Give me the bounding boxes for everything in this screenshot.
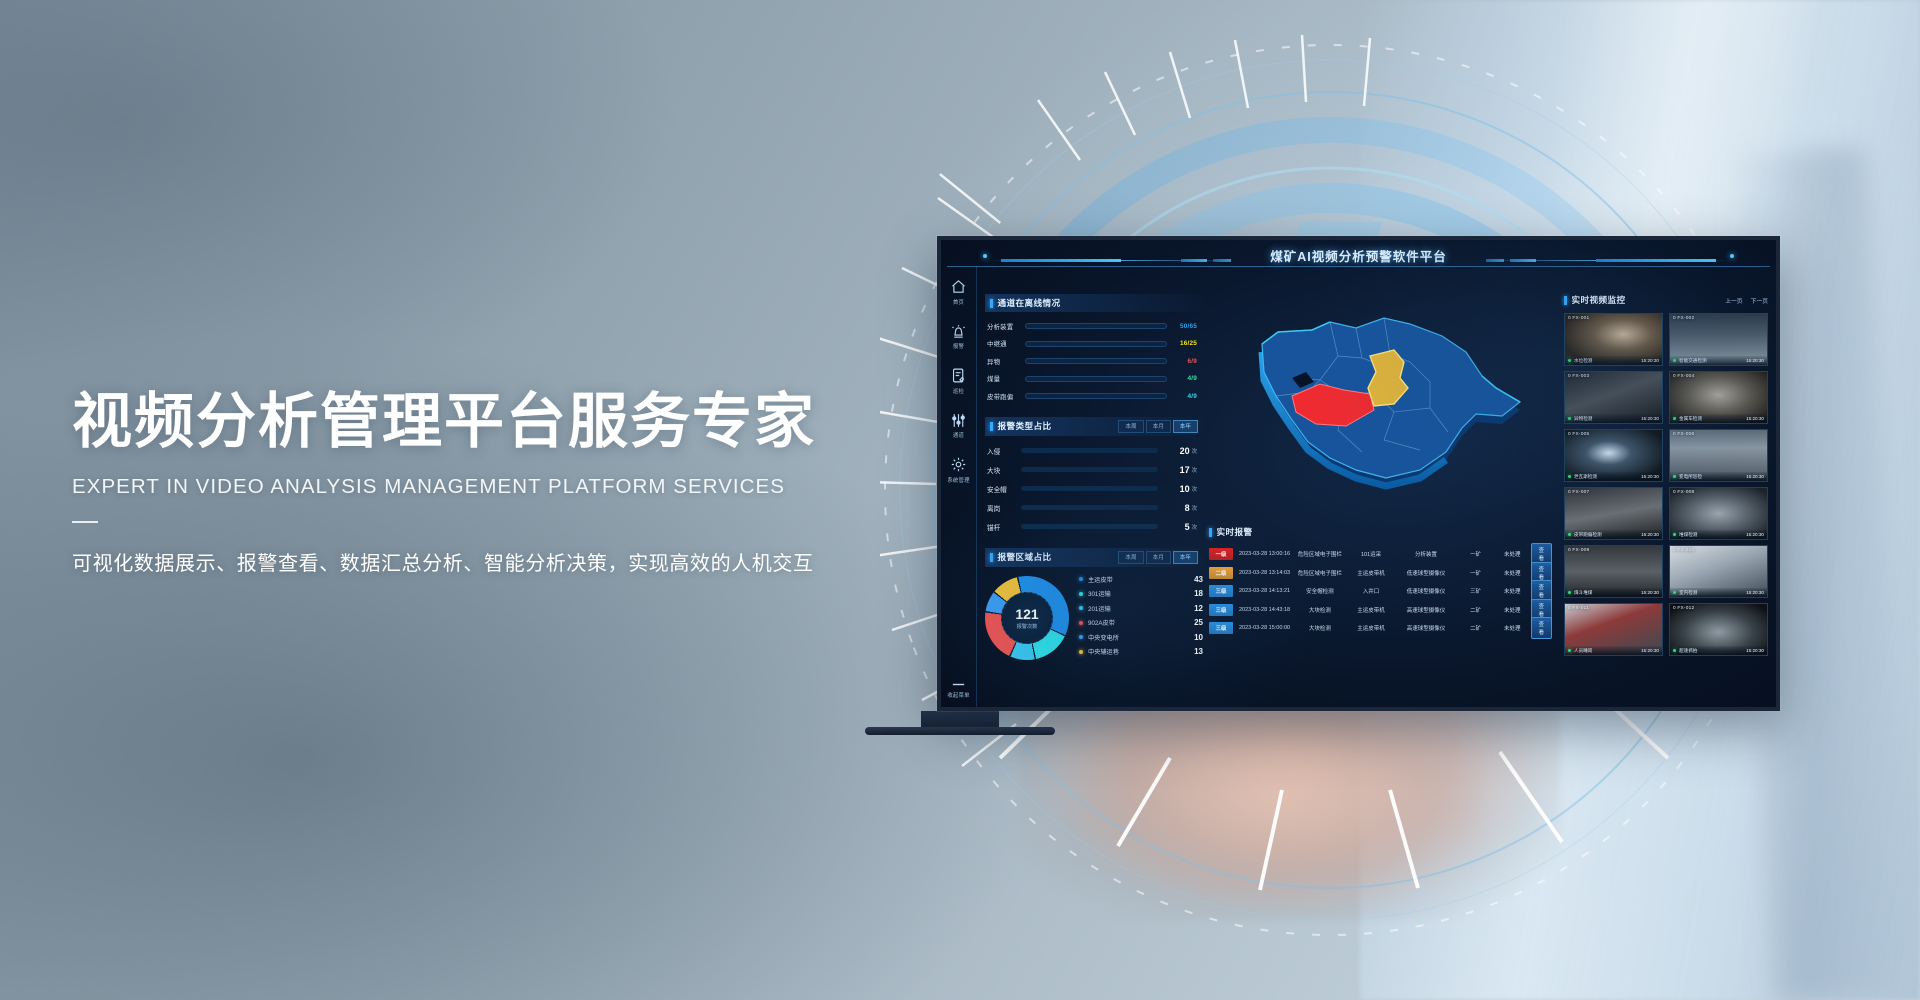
status-dot-icon: [1673, 649, 1676, 652]
table-row[interactable]: 三级 2023-03-28 14:13:21 安全帽检测 入井口 低速球型摄像仪…: [1209, 582, 1558, 601]
channel-bar-track: [1025, 376, 1167, 382]
table-row[interactable]: 二级 2023-03-28 13:14:03 危险区域电子围栏 主运皮带机 低速…: [1209, 564, 1558, 583]
alarm-device: 低速球型摄像仪: [1395, 587, 1458, 595]
prev-page-button[interactable]: 上一页: [1725, 296, 1742, 305]
sidebar-collapse-button[interactable]: 收起菜单: [941, 680, 976, 700]
alarm-type-unit: 次: [1192, 466, 1197, 474]
alarm-type-panel-header: 报警类型占比 本周 本月 本年: [985, 417, 1203, 436]
legend-color-dot: [1079, 606, 1083, 610]
legend-name: 中央辅运巷: [1088, 647, 1194, 656]
alarm-device: 高速球型摄像仪: [1395, 624, 1458, 632]
home-icon: [950, 278, 967, 295]
video-code: 0 FX-004: [1673, 374, 1694, 379]
video-tile[interactable]: 0 FX-002智能交通检测15:20:30: [1669, 313, 1768, 366]
alarm-action-cell: 查看: [1531, 617, 1558, 639]
channel-bar-value: 4/9: [1167, 375, 1197, 382]
sidebar-label-home: 首页: [953, 298, 964, 306]
alarm-type-track: [1021, 467, 1158, 473]
next-page-button[interactable]: 下一页: [1751, 296, 1768, 305]
sidebar-label-alarm: 报警: [953, 342, 964, 350]
video-timestamp: 15:20:30: [1641, 416, 1659, 421]
status-dot-icon: [1673, 475, 1676, 478]
alarm-type-count: 20: [1158, 446, 1190, 456]
video-tile[interactable]: 0 FX-007皮带跑偏检测15:20:30: [1564, 487, 1663, 540]
alarm-location: 主运皮带机: [1347, 624, 1394, 632]
alarm-type-label: 锚杆: [987, 522, 1021, 532]
video-tile[interactable]: 0 FX-009煤斗堆煤15:20:30: [1564, 545, 1663, 598]
region-map[interactable]: [1209, 294, 1558, 522]
legend-name: 301运输: [1088, 589, 1194, 598]
video-code: 0 FX-007: [1568, 490, 1589, 495]
video-caption-bar: 超速抓拍15:20:30: [1670, 646, 1767, 655]
video-timestamp: 15:20:30: [1641, 474, 1659, 479]
video-timestamp: 15:20:30: [1746, 532, 1764, 537]
alarm-location: 主运皮带机: [1347, 606, 1394, 614]
alarm-type-label: 大块: [987, 465, 1021, 475]
table-row[interactable]: 三级 2023-03-28 14:43:18 大块检测 主运皮带机 高速球型摄像…: [1209, 601, 1558, 620]
alarm-type-row: 锚杆 5 次: [987, 522, 1197, 532]
status-dot-icon: [1673, 533, 1676, 536]
channel-bar-value: 4/9: [1167, 393, 1197, 400]
alarm-device: 分析装置: [1395, 550, 1458, 558]
alarm-type-unit: 次: [1192, 523, 1197, 531]
level-badge: 三级: [1209, 585, 1233, 597]
alarm-area-panel-title: 报警区域占比: [990, 551, 1051, 563]
alarm-type-tabs: 本周 本月 本年: [1118, 420, 1198, 433]
level-badge: 三级: [1209, 604, 1233, 616]
legend-color-dot: [1079, 592, 1083, 596]
video-code: 0 FX-008: [1673, 490, 1694, 495]
alarm-mine: 二矿: [1457, 624, 1494, 632]
alarm-type-panel-title: 报警类型占比: [990, 420, 1051, 432]
legend-color-dot: [1079, 577, 1083, 581]
alarm-area-panel-header: 报警区域占比 本周 本月 本年: [985, 548, 1203, 567]
tab-week[interactable]: 本周: [1118, 420, 1143, 433]
legend-item: 902A皮带 25: [1079, 618, 1203, 627]
alarm-type-row: 入侵 20 次: [987, 446, 1197, 456]
area-tab-month[interactable]: 本月: [1146, 551, 1171, 564]
video-caption-bar: 智能交通检测15:20:30: [1670, 356, 1767, 365]
video-caption-bar: 水位检测15:20:30: [1565, 356, 1662, 365]
video-code: 0 FX-005: [1568, 432, 1589, 437]
dashboard-screen: 煤矿AI视频分析预警软件平台 首页 报警: [941, 240, 1776, 707]
video-name: 皮带跑偏检测: [1574, 532, 1641, 538]
video-code: 0 FX-003: [1568, 374, 1589, 379]
video-tile[interactable]: 0 FX-003异物检测15:20:30: [1564, 371, 1663, 424]
video-tile[interactable]: 0 FX-008堆煤检测15:20:30: [1669, 487, 1768, 540]
sidebar: 首页 报警 巡检: [941, 266, 977, 707]
legend-color-dot: [1079, 650, 1083, 654]
video-code: 0 FX-012: [1673, 606, 1694, 611]
monitor-stand-base: [865, 727, 1055, 735]
alarm-mine: 三矿: [1457, 587, 1494, 595]
video-timestamp: 15:20:30: [1746, 590, 1764, 595]
video-name: 煤斗堆煤: [1574, 590, 1641, 596]
alarm-type: 危险区域电子围栏: [1292, 569, 1347, 577]
video-code: 0 FX-009: [1568, 548, 1589, 553]
table-row[interactable]: 一级 2023-03-28 13:00:16 危险区域电子围栏 101运采 分析…: [1209, 545, 1558, 564]
video-tile[interactable]: 0 FX-010室内检测15:20:30: [1669, 545, 1768, 598]
video-panel-header: 实时视频监控 上一页 下一页: [1564, 294, 1768, 306]
sidebar-item-inspection[interactable]: 巡检: [941, 367, 976, 395]
level-badge: 三级: [1209, 622, 1233, 634]
video-panel-title: 实时视频监控: [1564, 294, 1625, 306]
alarm-area-tabs: 本周 本月 本年: [1118, 551, 1198, 564]
legend-value: 25: [1194, 618, 1203, 627]
center-column: 实时报警 一级 2023-03-28 13:00:16 危险区域电子围栏 101…: [1209, 294, 1558, 703]
channel-label: 煤量: [987, 374, 1025, 383]
alarm-type-count: 5: [1158, 522, 1190, 532]
sidebar-label-settings: 系统管理: [947, 476, 969, 484]
channel-label: 异物: [987, 357, 1025, 366]
level-badge: 一级: [1209, 548, 1233, 560]
alarm-type: 危险区域电子围栏: [1292, 550, 1347, 558]
legend-name: 201运输: [1088, 604, 1194, 613]
settings-icon: [950, 456, 967, 473]
legend-name: 902A皮带: [1088, 618, 1194, 627]
status-dot-icon: [1673, 417, 1676, 420]
inspection-icon: [950, 367, 967, 384]
header-frame: [947, 266, 1770, 294]
channel-bar-track: [1025, 358, 1167, 364]
alarm-type-count: 17: [1158, 465, 1190, 475]
channel-bars: 分析装置 50/65 中继通 16/25 异物 6/9: [985, 312, 1203, 403]
legend-value: 10: [1194, 633, 1203, 642]
channel-bar-track: [1025, 323, 1167, 329]
level-badge: 二级: [1209, 567, 1233, 579]
donut-center: 121 报警次数: [1001, 592, 1053, 644]
area-tab-week[interactable]: 本周: [1118, 551, 1143, 564]
legend-item: 201运输 12: [1079, 604, 1203, 613]
video-timestamp: 15:20:30: [1641, 358, 1659, 363]
collapse-icon: [950, 680, 967, 689]
video-caption-bar: 煤斗堆煤15:20:30: [1565, 588, 1662, 597]
video-grid: 0 FX-001水位检测15:20:300 FX-002智能交通检测15:20:…: [1564, 313, 1768, 656]
region-map-svg: [1234, 300, 1534, 500]
channel-label: 皮带跑偏: [987, 392, 1025, 401]
video-caption-bar: 金属车检测15:20:30: [1670, 414, 1767, 423]
legend-name: 中央变电所: [1088, 633, 1194, 642]
hero-text-block: 视频分析管理平台服务专家 EXPERT IN VIDEO ANALYSIS MA…: [72, 388, 932, 576]
realtime-alarm-title: 实时报警: [1209, 526, 1558, 538]
alarm-type-unit: 次: [1192, 504, 1197, 512]
alarm-type-label: 离岗: [987, 503, 1021, 513]
status-dot-icon: [1568, 533, 1571, 536]
legend-name: 主运皮带: [1088, 575, 1194, 584]
area-tab-year[interactable]: 本年: [1173, 551, 1198, 564]
alarm-device: 高速球型摄像仪: [1395, 606, 1458, 614]
alarm-status: 未处理: [1494, 569, 1531, 577]
alarm-type-label: 入侵: [987, 446, 1021, 456]
video-tile[interactable]: 0 FX-005泄瓦斯检测15:20:30: [1564, 429, 1663, 482]
video-timestamp: 15:20:30: [1746, 648, 1764, 653]
channel-bar-value: 6/9: [1167, 358, 1197, 365]
video-timestamp: 15:20:30: [1641, 648, 1659, 653]
alarm-type-unit: 次: [1192, 447, 1197, 455]
alarm-type-track: [1021, 448, 1158, 454]
hero-subtitle: EXPERT IN VIDEO ANALYSIS MANAGEMENT PLAT…: [72, 475, 932, 499]
alarm-status: 未处理: [1494, 550, 1531, 558]
sidebar-item-settings[interactable]: 系统管理: [941, 456, 976, 484]
donut-legend: 主运皮带 43 301运输 18 201运输 12: [1069, 575, 1203, 662]
video-caption-bar: 室内检测15:20:30: [1670, 588, 1767, 597]
donut-caption: 报警次数: [1017, 623, 1038, 630]
view-button[interactable]: 查看: [1531, 617, 1552, 639]
sidebar-item-home[interactable]: 首页: [941, 278, 976, 306]
alarm-status: 未处理: [1494, 587, 1531, 595]
legend-color-dot: [1079, 635, 1083, 639]
sidebar-item-alarm[interactable]: 报警: [941, 323, 976, 351]
video-timestamp: 15:20:30: [1641, 532, 1659, 537]
alarm-location: 主运皮带机: [1347, 569, 1394, 577]
alarm-type-count: 10: [1158, 484, 1190, 494]
channel-bar-row: 异物 6/9: [987, 357, 1197, 366]
video-name: 水位检测: [1574, 358, 1641, 364]
channel-bar-row: 皮带跑偏 4/9: [987, 392, 1197, 401]
video-name: 人员睡岗: [1574, 648, 1641, 654]
video-monitoring-panel: 实时视频监控 上一页 下一页 0 FX-001水位检测15:20:300 FX-…: [1564, 294, 1768, 656]
alarm-type-track: [1021, 505, 1158, 511]
hero-divider: [72, 521, 98, 523]
alarm-type-rows: 入侵 20 次 大块 17 次 安全帽: [985, 436, 1203, 534]
video-tile[interactable]: 0 FX-006变电所巡检15:20:30: [1669, 429, 1768, 482]
alarm-type: 大块检测: [1292, 606, 1347, 614]
video-name: 泄瓦斯检测: [1574, 474, 1641, 480]
video-timestamp: 15:20:30: [1641, 590, 1659, 595]
video-name: 超速抓拍: [1679, 648, 1746, 654]
video-code: 0 FX-011: [1568, 606, 1589, 611]
video-timestamp: 15:20:30: [1746, 474, 1764, 479]
video-code: 0 FX-010: [1673, 548, 1694, 553]
video-caption-bar: 堆煤检测15:20:30: [1670, 530, 1767, 539]
alarm-status: 未处理: [1494, 606, 1531, 614]
sidebar-item-channel[interactable]: 通道: [941, 412, 976, 440]
video-code: 0 FX-002: [1673, 316, 1694, 321]
alarm-type-label: 安全帽: [987, 484, 1021, 494]
video-pager: 上一页 下一页: [1725, 296, 1768, 305]
legend-value: 43: [1194, 575, 1203, 584]
video-timestamp: 15:20:30: [1746, 416, 1764, 421]
alarm-table: 一级 2023-03-28 13:00:16 危险区域电子围栏 101运采 分析…: [1209, 545, 1558, 638]
video-code: 0 FX-001: [1568, 316, 1589, 321]
app-title: 煤矿AI视频分析预警软件平台: [941, 246, 1776, 265]
status-dot-icon: [1568, 417, 1571, 420]
alarm-mine: 一矿: [1457, 569, 1494, 577]
left-column: 通道在离线情况 分析装置 50/65 中继通 16/25: [985, 294, 1203, 673]
channel-bar-row: 煤量 4/9: [987, 374, 1197, 383]
video-name: 变电所巡检: [1679, 474, 1746, 480]
legend-item: 中央辅运巷 13: [1079, 647, 1203, 656]
alarm-type: 大块检测: [1292, 624, 1347, 632]
page-title: 视频分析管理平台服务专家: [72, 388, 932, 455]
alarm-mine: 二矿: [1457, 606, 1494, 614]
channel-bar-row: 分析装置 50/65: [987, 322, 1197, 331]
channel-icon: [950, 412, 967, 429]
channel-label: 中继通: [987, 339, 1025, 348]
alarm-type-track: [1021, 524, 1158, 530]
alarm-type-row: 离岗 8 次: [987, 503, 1197, 513]
sidebar-label-channel: 通道: [953, 431, 964, 439]
sidebar-label-inspection: 巡检: [953, 387, 964, 395]
channel-panel-header: 通道在离线情况: [985, 294, 1203, 312]
video-caption-bar: 皮带跑偏检测15:20:30: [1565, 530, 1662, 539]
alarm-type-track: [1021, 486, 1158, 492]
channel-bar-track: [1025, 341, 1167, 347]
legend-color-dot: [1079, 621, 1083, 625]
tab-month[interactable]: 本月: [1146, 420, 1171, 433]
alarm-type-row: 安全帽 10 次: [987, 484, 1197, 494]
legend-value: 18: [1194, 589, 1203, 598]
channel-bar-value: 16/25: [1167, 340, 1197, 347]
alarm-time: 2023-03-28 13:14:03: [1239, 570, 1292, 576]
alarm-area-chart: 121 报警次数 主运皮带 43: [985, 575, 1203, 662]
alarm-type-row: 大块 17 次: [987, 465, 1197, 475]
video-name: 金属车检测: [1679, 416, 1746, 422]
legend-item: 301运输 18: [1079, 589, 1203, 598]
alarm-time: 2023-03-28 14:13:21: [1239, 588, 1292, 594]
video-caption-bar: 变电所巡检15:20:30: [1670, 472, 1767, 481]
dashboard-content: 通道在离线情况 分析装置 50/65 中继通 16/25: [977, 294, 1776, 703]
channel-bar-value: 50/65: [1167, 323, 1197, 330]
donut-total: 121: [1015, 607, 1038, 621]
dashboard-header: 煤矿AI视频分析预警软件平台: [941, 240, 1776, 278]
alarm-device: 低速球型摄像仪: [1395, 569, 1458, 577]
alarm-type-unit: 次: [1192, 485, 1197, 493]
video-name: 堆煤检测: [1679, 532, 1746, 538]
status-dot-icon: [1568, 649, 1571, 652]
video-tile[interactable]: 0 FX-012超速抓拍15:20:30: [1669, 603, 1768, 656]
alarm-type-count: 8: [1158, 503, 1190, 513]
video-caption-bar: 泄瓦斯检测15:20:30: [1565, 472, 1662, 481]
channel-bar-track: [1025, 393, 1167, 399]
alarm-time: 2023-03-28 13:00:16: [1239, 551, 1292, 557]
alarm-status: 未处理: [1494, 624, 1531, 632]
status-dot-icon: [1568, 359, 1571, 362]
alarm-area-panel: 报警区域占比 本周 本月 本年 121: [985, 548, 1203, 662]
alarm-location: 入井口: [1347, 587, 1394, 595]
channel-bar-row: 中继通 16/25: [987, 339, 1197, 348]
video-code: 0 FX-006: [1673, 432, 1694, 437]
channel-status-panel: 通道在离线情况 分析装置 50/65 中继通 16/25: [985, 294, 1203, 403]
alarm-type-panel: 报警类型占比 本周 本月 本年 入侵 20: [985, 417, 1203, 534]
alarm-time: 2023-03-28 15:00:00: [1239, 625, 1292, 631]
table-row[interactable]: 三级 2023-03-28 15:00:00 大块检测 主运皮带机 高速球型摄像…: [1209, 619, 1558, 638]
video-name: 室内检测: [1679, 590, 1746, 596]
video-timestamp: 15:20:30: [1746, 358, 1764, 363]
donut-chart: 121 报警次数: [985, 576, 1069, 660]
video-tile[interactable]: 0 FX-011人员睡岗15:20:30: [1564, 603, 1663, 656]
legend-value: 12: [1194, 604, 1203, 613]
legend-value: 13: [1194, 647, 1203, 656]
status-dot-icon: [1673, 359, 1676, 362]
video-name: 智能交通检测: [1679, 358, 1746, 364]
legend-item: 主运皮带 43: [1079, 575, 1203, 584]
status-dot-icon: [1568, 591, 1571, 594]
video-tile[interactable]: 0 FX-001水位检测15:20:30: [1564, 313, 1663, 366]
alarm-type: 安全帽检测: [1292, 587, 1347, 595]
alarm-mine: 一矿: [1457, 550, 1494, 558]
video-caption-bar: 异物检测15:20:30: [1565, 414, 1662, 423]
monitor-bezel: 煤矿AI视频分析预警软件平台 首页 报警: [937, 236, 1780, 711]
tab-year[interactable]: 本年: [1173, 420, 1198, 433]
hero-description: 可视化数据展示、报警查看、数据汇总分析、智能分析决策，实现高效的人机交互: [72, 547, 932, 576]
alarm-icon: [950, 323, 967, 340]
channel-label: 分析装置: [987, 322, 1025, 331]
alarm-location: 101运采: [1347, 550, 1394, 558]
sidebar-collapse-label: 收起菜单: [947, 691, 969, 699]
channel-panel-title: 通道在离线情况: [990, 297, 1060, 309]
legend-item: 中央变电所 10: [1079, 633, 1203, 642]
realtime-alarm-panel: 实时报警 一级 2023-03-28 13:00:16 危险区域电子围栏 101…: [1209, 526, 1558, 699]
status-dot-icon: [1568, 475, 1571, 478]
video-tile[interactable]: 0 FX-004金属车检测15:20:30: [1669, 371, 1768, 424]
video-caption-bar: 人员睡岗15:20:30: [1565, 646, 1662, 655]
alarm-time: 2023-03-28 14:43:18: [1239, 607, 1292, 613]
status-dot-icon: [1673, 591, 1676, 594]
video-name: 异物检测: [1574, 416, 1641, 422]
